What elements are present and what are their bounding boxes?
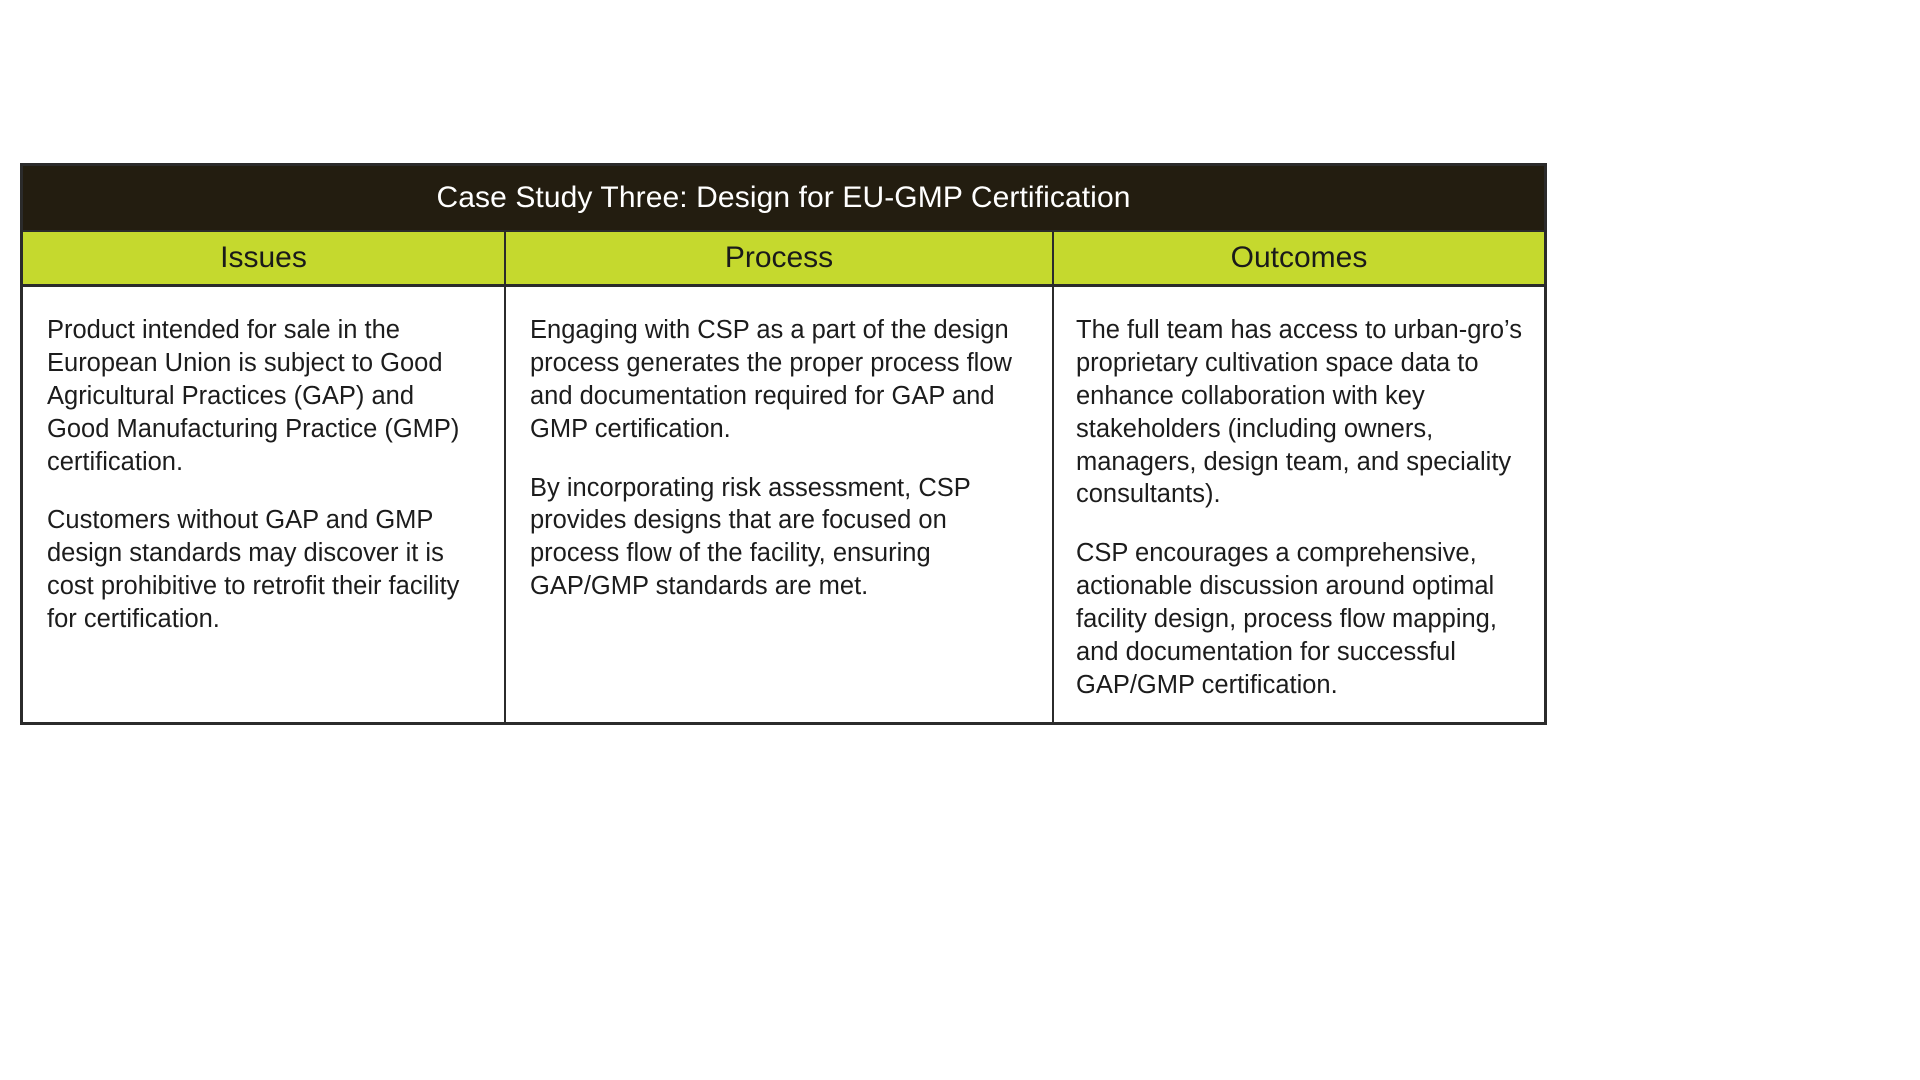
table-cell-issues: Product intended for sale in the Europea… (23, 287, 506, 722)
page-title: Case Study Three: Design for EU-GMP Cert… (436, 183, 1130, 213)
cell-paragraph: Product intended for sale in the Europea… (47, 314, 480, 478)
cell-paragraph: By incorporating risk assessment, CSP pr… (530, 472, 1028, 604)
table-header-row: Issues Process Outcomes (23, 230, 1544, 287)
column-header-label: Issues (220, 243, 307, 273)
column-header-outcomes: Outcomes (1054, 232, 1544, 284)
column-header-issues: Issues (23, 232, 506, 284)
cell-paragraph: CSP encourages a comprehensive, actionab… (1076, 537, 1530, 701)
table-cell-process: Engaging with CSP as a part of the desig… (506, 287, 1054, 722)
cell-paragraph: Customers without GAP and GMP design sta… (47, 504, 480, 636)
column-header-label: Process (725, 243, 833, 273)
column-header-process: Process (506, 232, 1054, 284)
page-canvas: Case Study Three: Design for EU-GMP Cert… (0, 0, 1920, 1080)
cell-paragraph: Engaging with CSP as a part of the desig… (530, 314, 1028, 446)
table-body-row: Product intended for sale in the Europea… (23, 287, 1544, 722)
table-cell-outcomes: The full team has access to urban-gro’s … (1054, 287, 1544, 722)
column-header-label: Outcomes (1231, 243, 1368, 273)
cell-paragraph: The full team has access to urban-gro’s … (1076, 314, 1530, 511)
case-study-table: Case Study Three: Design for EU-GMP Cert… (20, 163, 1547, 725)
table-title-band: Case Study Three: Design for EU-GMP Cert… (23, 166, 1544, 230)
